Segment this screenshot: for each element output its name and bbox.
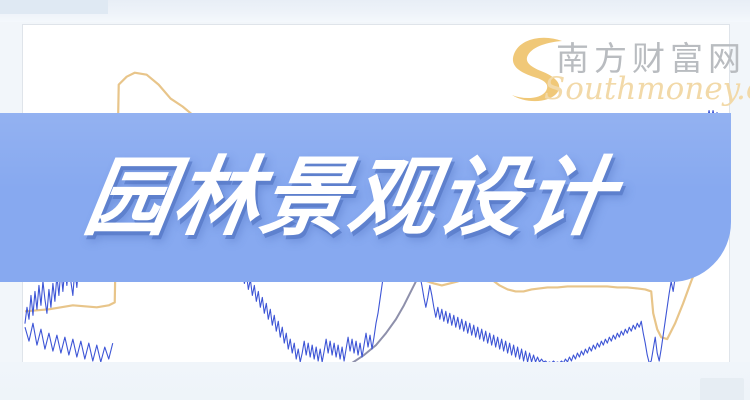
band-sheen [0, 113, 731, 282]
top-left-tab-strip [0, 0, 108, 14]
headline-highlight-band [0, 113, 731, 282]
top-background-band [0, 0, 750, 22]
bottom-right-chip [700, 378, 744, 400]
price-line-left-detail [25, 323, 113, 362]
bottom-background-band [0, 362, 750, 400]
stock-chart-banner: 园林景观设计 南方财富网 Southmoney.com [0, 0, 750, 400]
